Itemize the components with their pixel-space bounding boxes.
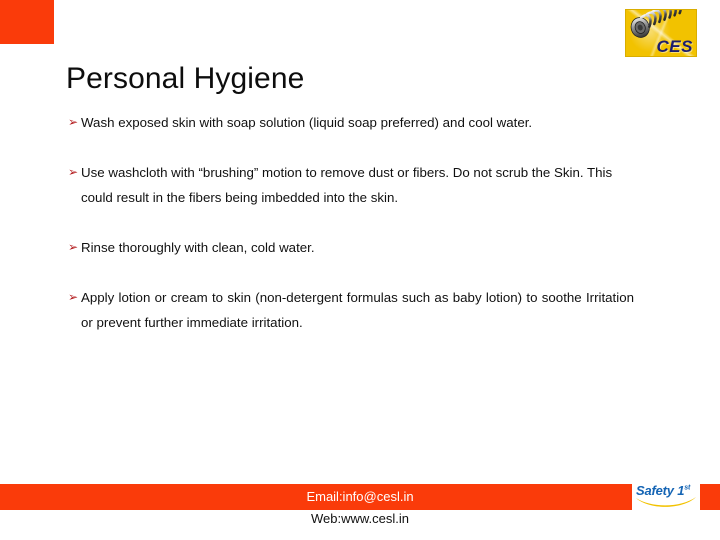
- list-item-text: Apply lotion or cream to skin (non-deter…: [81, 290, 634, 330]
- slide-canvas: Personal Hygiene: [0, 0, 720, 540]
- list-item: ➢ Wash exposed skin with soap solution (…: [68, 110, 634, 135]
- arrow-bullet-icon: ➢: [68, 235, 78, 260]
- list-item: ➢ Rinse thoroughly with clean, cold wate…: [68, 235, 634, 260]
- list-item-text: Wash exposed skin with soap solution (li…: [81, 115, 532, 130]
- list-item-text: Use washcloth with “brushing” motion to …: [81, 165, 612, 205]
- arrow-bullet-icon: ➢: [68, 110, 78, 135]
- arrow-bullet-icon: ➢: [68, 285, 78, 310]
- corner-accent-square: [0, 0, 54, 44]
- list-item: ➢ Use washcloth with “brushing” motion t…: [68, 160, 634, 210]
- page-title: Personal Hygiene: [66, 61, 304, 97]
- arrow-bullet-icon: ➢: [68, 160, 78, 185]
- ces-logo-text: CES: [657, 38, 693, 55]
- swoosh-icon: [635, 496, 697, 509]
- bullet-list: ➢ Wash exposed skin with soap solution (…: [68, 110, 634, 335]
- ces-logo: CES: [625, 9, 697, 57]
- safety-first-logo-suffix: st: [684, 485, 690, 492]
- list-item-text: Rinse thoroughly with clean, cold water.: [81, 240, 315, 255]
- list-item: ➢ Apply lotion or cream to skin (non-det…: [68, 285, 634, 335]
- footer-email: Email:info@cesl.in: [0, 489, 720, 505]
- footer-web: Web:www.cesl.in: [0, 511, 720, 527]
- safety-first-logo: Safety 1st: [632, 481, 700, 511]
